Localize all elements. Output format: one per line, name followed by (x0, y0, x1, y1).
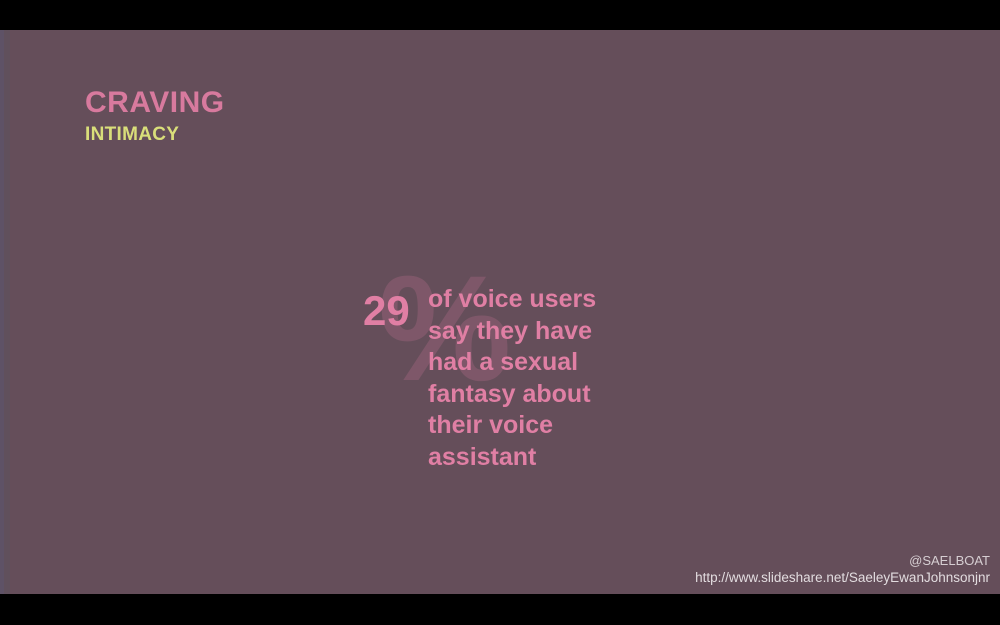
slide-canvas: CRAVING INTIMACY % 29 of voice users say… (0, 30, 1000, 594)
slide-title-block: CRAVING INTIMACY (85, 88, 225, 144)
letterbox-bar-top (0, 0, 1000, 30)
slide-footer: @SAELBOAT http://www.slideshare.net/Sael… (695, 552, 990, 586)
statistic-block: % 29 of voice users say they have had a … (360, 245, 660, 475)
left-edge-strip-inner (4, 30, 10, 594)
letterbox-bar-bottom (0, 594, 1000, 625)
statistic-number: 29 (363, 290, 410, 332)
statistic-description: of voice users say they have had a sexua… (428, 284, 610, 473)
presentation-slide-frame: CRAVING INTIMACY % 29 of voice users say… (0, 0, 1000, 625)
footer-source-url[interactable]: http://www.slideshare.net/SaeleyEwanJohn… (695, 569, 990, 586)
slide-title-main: CRAVING (85, 88, 225, 118)
slide-title-sub: INTIMACY (85, 125, 225, 144)
footer-social-handle: @SAELBOAT (695, 552, 990, 569)
